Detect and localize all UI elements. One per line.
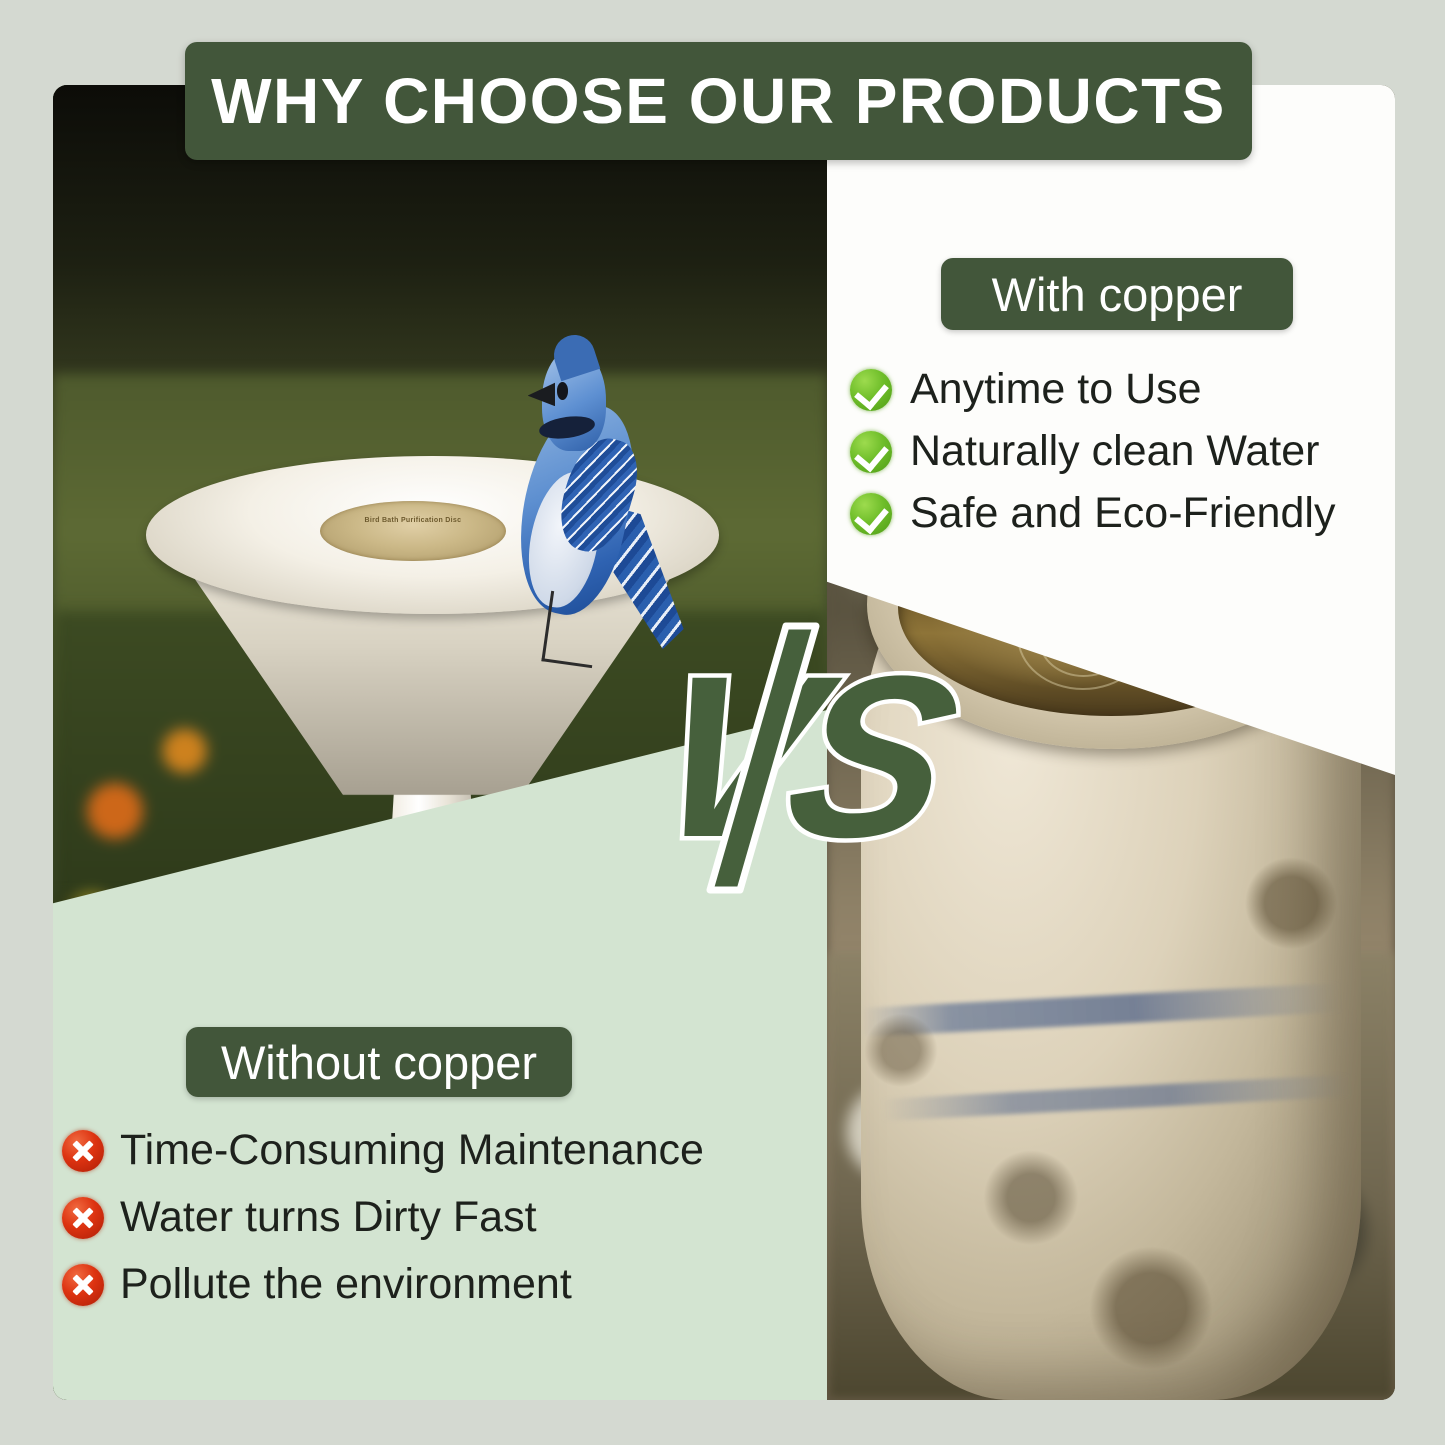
list-item: Safe and Eco-Friendly <box>850 489 1410 538</box>
list-item-label: Naturally clean Water <box>910 427 1319 476</box>
x-circle-icon <box>62 1264 104 1306</box>
list-item-label: Water turns Dirty Fast <box>120 1193 537 1242</box>
versus-graphic: VS <box>668 618 918 898</box>
blue-jay-bird <box>494 341 680 683</box>
disc-engraving-text: Bird Bath Purification Disc <box>320 517 506 526</box>
infographic-root: Bird Bath Purification Disc <box>0 0 1445 1445</box>
page-title: WHY CHOOSE OUR PRODUCTS <box>185 42 1252 160</box>
list-item-label: Pollute the environment <box>120 1260 572 1309</box>
list-item: Anytime to Use <box>850 365 1410 414</box>
with-copper-feature-list: Anytime to Use Naturally clean Water Saf… <box>850 365 1410 551</box>
list-item: Time-Consuming Maintenance <box>62 1126 792 1175</box>
copper-purification-disc: Bird Bath Purification Disc <box>320 501 506 561</box>
without-copper-feature-list: Time-Consuming Maintenance Water turns D… <box>62 1126 792 1327</box>
list-item: Pollute the environment <box>62 1260 792 1309</box>
with-copper-badge: With copper <box>941 258 1293 330</box>
x-circle-icon <box>62 1197 104 1239</box>
with-copper-badge-label: With copper <box>992 267 1243 322</box>
without-copper-badge-label: Without copper <box>221 1035 537 1090</box>
list-item: Water turns Dirty Fast <box>62 1193 792 1242</box>
list-item: Naturally clean Water <box>850 427 1410 476</box>
check-circle-icon <box>850 431 892 473</box>
list-item-label: Safe and Eco-Friendly <box>910 489 1335 538</box>
check-circle-icon <box>850 493 892 535</box>
page-title-text: WHY CHOOSE OUR PRODUCTS <box>211 64 1226 138</box>
bird-legs <box>541 591 602 669</box>
without-copper-badge: Without copper <box>186 1027 572 1097</box>
list-item-label: Time-Consuming Maintenance <box>120 1126 704 1175</box>
list-item-label: Anytime to Use <box>910 365 1202 414</box>
x-circle-icon <box>62 1130 104 1172</box>
check-circle-icon <box>850 369 892 411</box>
